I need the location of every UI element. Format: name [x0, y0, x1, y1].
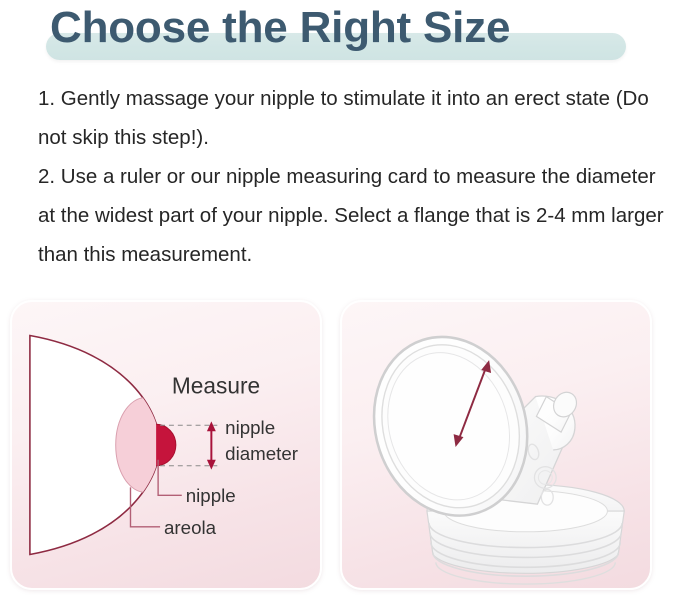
label-nipple: nipple [186, 485, 236, 506]
card-flange-illustration [340, 300, 652, 590]
page-root: Choose the Right Size 1. Gently massage … [0, 0, 679, 602]
measure-diagram-svg: Measure nipple diameter nipple areola [12, 302, 320, 588]
label-nipple-diameter-line1: nipple [225, 417, 275, 438]
page-title: Choose the Right Size [50, 0, 510, 56]
measure-heading: Measure [172, 373, 260, 399]
page-header: Choose the Right Size [0, 0, 679, 70]
instructions-block: 1. Gently massage your nipple to stimula… [38, 79, 670, 274]
instruction-step-2: 2. Use a ruler or our nipple measuring c… [38, 157, 670, 274]
illustration-cards: Measure nipple diameter nipple areola [10, 300, 670, 592]
diameter-arrow-icon [207, 421, 216, 469]
label-areola: areola [164, 517, 217, 538]
label-nipple-diameter-line2: diameter [225, 443, 298, 464]
nipple-shape [156, 424, 176, 465]
flange-illustration-svg [342, 302, 650, 588]
instruction-step-1: 1. Gently massage your nipple to stimula… [38, 79, 670, 157]
card-measure-diagram: Measure nipple diameter nipple areola [10, 300, 322, 590]
